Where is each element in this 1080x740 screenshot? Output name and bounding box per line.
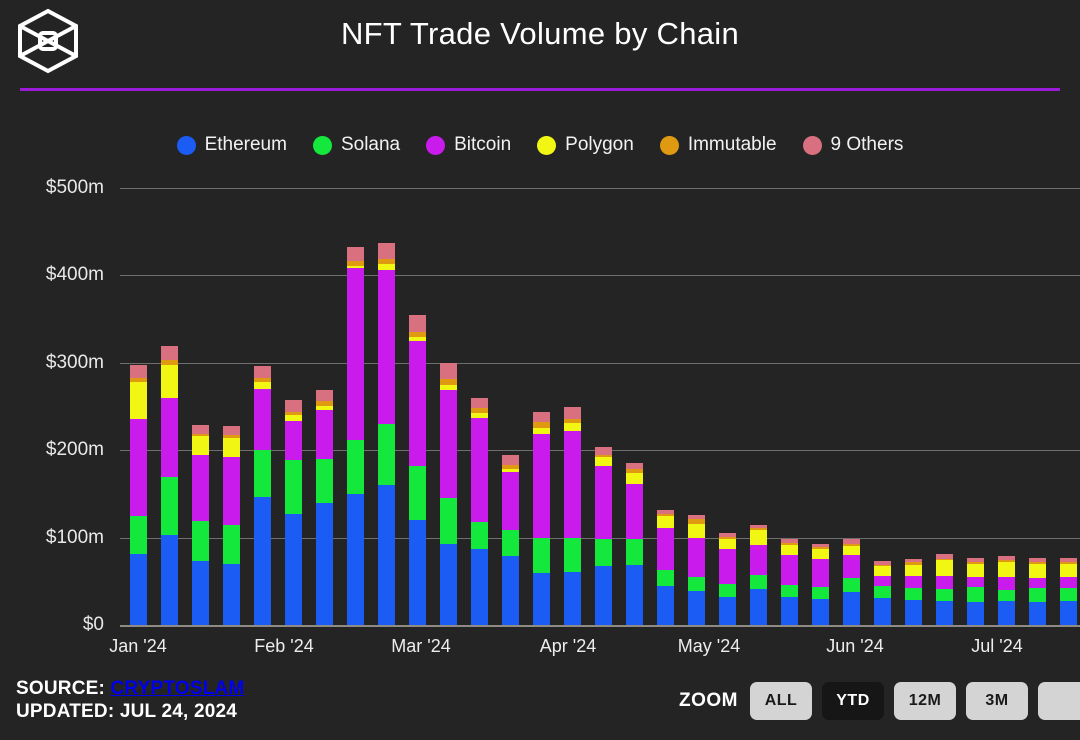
bar-column[interactable] <box>192 425 209 625</box>
bar-segment-ethereum <box>161 535 178 625</box>
chart-x-axis: Jan '24Feb '24Mar '24Apr '24May '24Jun '… <box>0 636 1080 664</box>
bar-segment-solana <box>564 538 581 571</box>
bar-segment-9-others <box>161 346 178 360</box>
bar-segment-bitcoin <box>719 549 736 584</box>
zoom-button-more[interactable] <box>1038 682 1080 720</box>
bar-segment-bitcoin <box>471 418 488 522</box>
bar-segment-ethereum <box>254 497 271 625</box>
bar-segment-solana <box>471 522 488 549</box>
bar-segment-bitcoin <box>905 576 922 588</box>
bar-column[interactable] <box>626 463 643 625</box>
zoom-button-all[interactable]: ALL <box>750 682 812 720</box>
x-axis-tick-label: May '24 <box>678 636 740 657</box>
legend-item-bitcoin[interactable]: Bitcoin <box>426 134 511 156</box>
bar-segment-bitcoin <box>192 455 209 521</box>
bar-column[interactable] <box>998 556 1015 625</box>
bar-column[interactable] <box>502 455 519 625</box>
bar-segment-bitcoin <box>781 555 798 585</box>
bar-segment-9-others <box>409 315 426 332</box>
bar-segment-solana <box>192 521 209 561</box>
bar-segment-polygon <box>626 473 643 484</box>
chart-bars <box>0 170 1080 640</box>
legend-item-solana[interactable]: Solana <box>313 134 400 156</box>
bar-segment-solana <box>750 575 767 589</box>
bar-segment-polygon <box>967 564 984 577</box>
bar-segment-bitcoin <box>967 577 984 587</box>
x-axis-tick-label: Jan '24 <box>109 636 166 657</box>
bar-segment-polygon <box>843 546 860 556</box>
bar-segment-9-others <box>502 455 519 465</box>
bar-column[interactable] <box>254 366 271 625</box>
legend-item-immutable[interactable]: Immutable <box>660 134 777 156</box>
bar-segment-ethereum <box>936 601 953 625</box>
bar-segment-polygon <box>223 438 240 457</box>
bar-segment-9-others <box>378 243 395 259</box>
bar-segment-9-others <box>347 247 364 260</box>
bar-segment-ethereum <box>905 600 922 625</box>
bar-segment-9-others <box>192 425 209 434</box>
legend-item-polygon[interactable]: Polygon <box>537 134 634 156</box>
x-axis-tick-label: Mar '24 <box>391 636 450 657</box>
bar-segment-9-others <box>533 412 550 422</box>
bar-segment-polygon <box>1060 564 1077 577</box>
bar-segment-bitcoin <box>595 466 612 539</box>
bar-segment-solana <box>1029 588 1046 602</box>
bar-segment-ethereum <box>533 573 550 625</box>
bar-segment-ethereum <box>657 586 674 625</box>
bar-segment-solana <box>409 466 426 520</box>
bar-segment-polygon <box>161 365 178 398</box>
legend-item-label: Polygon <box>565 134 634 156</box>
bar-segment-polygon <box>657 516 674 528</box>
legend-item-label: Solana <box>341 134 400 156</box>
bar-column[interactable] <box>130 365 147 625</box>
bar-column[interactable] <box>967 558 984 625</box>
bar-segment-ethereum <box>192 561 209 625</box>
chart-plot-area: $0$100m$200m$300m$400m$500m <box>0 170 1080 640</box>
bar-segment-polygon <box>812 549 829 559</box>
bar-segment-solana <box>595 539 612 566</box>
legend-swatch-icon <box>803 136 822 155</box>
bar-segment-ethereum <box>595 566 612 625</box>
legend-item-label: 9 Others <box>831 134 904 156</box>
bar-segment-ethereum <box>223 564 240 625</box>
legend-item-label: Ethereum <box>205 134 287 156</box>
bar-segment-polygon <box>688 524 705 538</box>
x-axis-tick-label: Feb '24 <box>254 636 313 657</box>
bar-segment-solana <box>781 585 798 597</box>
bar-segment-polygon <box>719 539 736 549</box>
bar-segment-solana <box>378 424 395 485</box>
bar-column[interactable] <box>1029 558 1046 625</box>
bar-segment-ethereum <box>967 602 984 625</box>
bar-segment-bitcoin <box>440 390 457 498</box>
bar-segment-ethereum <box>874 598 891 625</box>
bar-segment-ethereum <box>688 591 705 625</box>
bar-segment-solana <box>440 498 457 543</box>
bar-segment-polygon <box>936 560 953 576</box>
bar-segment-solana <box>316 459 333 503</box>
bar-segment-bitcoin <box>812 559 829 587</box>
bar-column[interactable] <box>440 363 457 625</box>
bar-segment-polygon <box>130 382 147 419</box>
bar-segment-polygon <box>781 545 798 555</box>
bar-column[interactable] <box>936 554 953 625</box>
bar-column[interactable] <box>409 315 426 625</box>
page-title: NFT Trade Volume by Chain <box>0 16 1080 52</box>
bar-segment-ethereum <box>564 572 581 625</box>
legend-swatch-icon <box>660 136 679 155</box>
bar-segment-ethereum <box>285 514 302 625</box>
bar-segment-9-others <box>564 407 581 418</box>
bar-column[interactable] <box>285 400 302 625</box>
bar-segment-bitcoin <box>130 419 147 516</box>
bar-segment-ethereum <box>347 494 364 625</box>
bar-segment-solana <box>502 530 519 556</box>
bar-segment-solana <box>533 538 550 573</box>
bar-segment-solana <box>254 450 271 497</box>
bar-column[interactable] <box>843 539 860 625</box>
bar-segment-solana <box>1060 588 1077 601</box>
chart-header: NFT Trade Volume by Chain <box>0 0 1080 88</box>
zoom-button-12m[interactable]: 12M <box>894 682 956 720</box>
bar-segment-solana <box>967 587 984 602</box>
bar-column[interactable] <box>688 515 705 625</box>
bar-segment-9-others <box>285 400 302 411</box>
bar-segment-ethereum <box>781 597 798 625</box>
bar-segment-ethereum <box>1060 601 1077 625</box>
bar-segment-bitcoin <box>161 398 178 478</box>
bar-segment-ethereum <box>1029 602 1046 625</box>
bar-segment-9-others <box>440 363 457 380</box>
bar-column[interactable] <box>471 398 488 625</box>
bar-column[interactable] <box>161 346 178 625</box>
bar-segment-ethereum <box>812 599 829 625</box>
bar-segment-bitcoin <box>564 431 581 539</box>
bar-segment-ethereum <box>316 503 333 625</box>
bar-column[interactable] <box>905 559 922 625</box>
bar-segment-ethereum <box>626 565 643 625</box>
bar-segment-ethereum <box>378 485 395 625</box>
bar-segment-9-others <box>316 390 333 401</box>
bar-segment-bitcoin <box>254 389 271 450</box>
bar-column[interactable] <box>316 390 333 625</box>
bar-segment-solana <box>347 440 364 494</box>
legend-swatch-icon <box>426 136 445 155</box>
zoom-controls: ZOOM ALLYTD12M3M <box>679 682 1080 720</box>
bar-column[interactable] <box>223 426 240 625</box>
bar-segment-bitcoin <box>750 545 767 576</box>
bar-column[interactable] <box>750 525 767 625</box>
bar-segment-bitcoin <box>936 576 953 589</box>
legend-swatch-icon <box>177 136 196 155</box>
bar-column[interactable] <box>657 510 674 625</box>
bar-segment-ethereum <box>440 544 457 625</box>
source-prefix-label: SOURCE: <box>16 678 111 699</box>
bar-segment-ethereum <box>130 554 147 625</box>
x-axis-tick-label: Jul '24 <box>971 636 1022 657</box>
bar-segment-bitcoin <box>223 457 240 524</box>
bar-segment-bitcoin <box>998 577 1015 590</box>
bar-segment-ethereum <box>502 556 519 625</box>
legend-item-label: Immutable <box>688 134 777 156</box>
bar-segment-solana <box>657 570 674 586</box>
bar-segment-ethereum <box>409 520 426 625</box>
bar-segment-solana <box>843 578 860 592</box>
zoom-button-3m[interactable]: 3M <box>966 682 1028 720</box>
bar-segment-solana <box>719 584 736 597</box>
bar-segment-solana <box>626 539 643 564</box>
bar-segment-9-others <box>130 365 147 378</box>
bar-column[interactable] <box>781 539 798 625</box>
bar-segment-solana <box>874 586 891 598</box>
bar-segment-polygon <box>750 530 767 545</box>
bar-segment-ethereum <box>998 601 1015 625</box>
bar-segment-solana <box>998 590 1015 601</box>
bar-segment-polygon <box>905 565 922 576</box>
zoom-label: ZOOM <box>679 690 738 712</box>
bar-segment-ethereum <box>471 549 488 625</box>
bar-segment-solana <box>285 460 302 514</box>
source-link[interactable]: CRYPTOSLAM <box>111 678 245 699</box>
bar-segment-polygon <box>192 436 209 455</box>
updated-label: UPDATED: JUL 24, 2024 <box>16 701 237 723</box>
zoom-button-ytd[interactable]: YTD <box>822 682 884 720</box>
bar-segment-solana <box>688 577 705 591</box>
bar-column[interactable] <box>378 243 395 625</box>
legend-swatch-icon <box>537 136 556 155</box>
bar-column[interactable] <box>564 407 581 625</box>
bar-segment-bitcoin <box>1060 577 1077 588</box>
legend-item-ethereum[interactable]: Ethereum <box>177 134 287 156</box>
bar-segment-bitcoin <box>409 341 426 466</box>
bar-segment-bitcoin <box>874 576 891 586</box>
bar-segment-polygon <box>595 457 612 466</box>
bar-column[interactable] <box>347 247 364 625</box>
source-line: SOURCE: CRYPTOSLAM <box>16 678 244 700</box>
bar-segment-solana <box>223 525 240 564</box>
bar-segment-polygon <box>874 566 891 576</box>
bar-segment-ethereum <box>843 592 860 625</box>
bar-segment-9-others <box>254 366 271 377</box>
bar-segment-bitcoin <box>347 268 364 439</box>
legend-item-label: Bitcoin <box>454 134 511 156</box>
bar-segment-polygon <box>564 423 581 431</box>
bar-column[interactable] <box>874 561 891 625</box>
bar-segment-9-others <box>223 426 240 436</box>
chart-legend: EthereumSolanaBitcoinPolygonImmutable9 O… <box>0 128 1080 162</box>
bar-segment-bitcoin <box>843 555 860 578</box>
bar-segment-bitcoin <box>626 484 643 539</box>
bar-segment-bitcoin <box>316 410 333 459</box>
bar-column[interactable] <box>719 533 736 625</box>
bar-segment-polygon <box>254 382 271 389</box>
bar-segment-solana <box>130 516 147 554</box>
bar-segment-bitcoin <box>1029 578 1046 588</box>
bar-segment-ethereum <box>719 597 736 625</box>
legend-swatch-icon <box>313 136 332 155</box>
bar-segment-bitcoin <box>657 528 674 570</box>
bar-segment-solana <box>161 477 178 535</box>
chart-footer: SOURCE: CRYPTOSLAM UPDATED: JUL 24, 2024… <box>0 668 1080 740</box>
bar-segment-9-others <box>595 447 612 455</box>
bar-segment-polygon <box>998 562 1015 577</box>
bar-segment-polygon <box>1029 564 1046 578</box>
bar-column[interactable] <box>595 447 612 625</box>
bar-segment-bitcoin <box>533 434 550 539</box>
bar-segment-bitcoin <box>378 270 395 424</box>
legend-item-9-others[interactable]: 9 Others <box>803 134 904 156</box>
bar-segment-solana <box>905 588 922 599</box>
bar-segment-solana <box>936 589 953 600</box>
bar-segment-bitcoin <box>285 421 302 460</box>
bar-segment-bitcoin <box>502 472 519 530</box>
bar-column[interactable] <box>812 544 829 625</box>
bar-segment-ethereum <box>750 589 767 625</box>
x-axis-tick-label: Apr '24 <box>540 636 596 657</box>
bar-segment-solana <box>812 587 829 599</box>
bar-segment-9-others <box>471 398 488 408</box>
bar-segment-bitcoin <box>688 538 705 577</box>
bar-column[interactable] <box>533 412 550 625</box>
x-axis-tick-label: Jun '24 <box>826 636 883 657</box>
header-divider <box>20 88 1060 91</box>
bar-column[interactable] <box>1060 558 1077 625</box>
